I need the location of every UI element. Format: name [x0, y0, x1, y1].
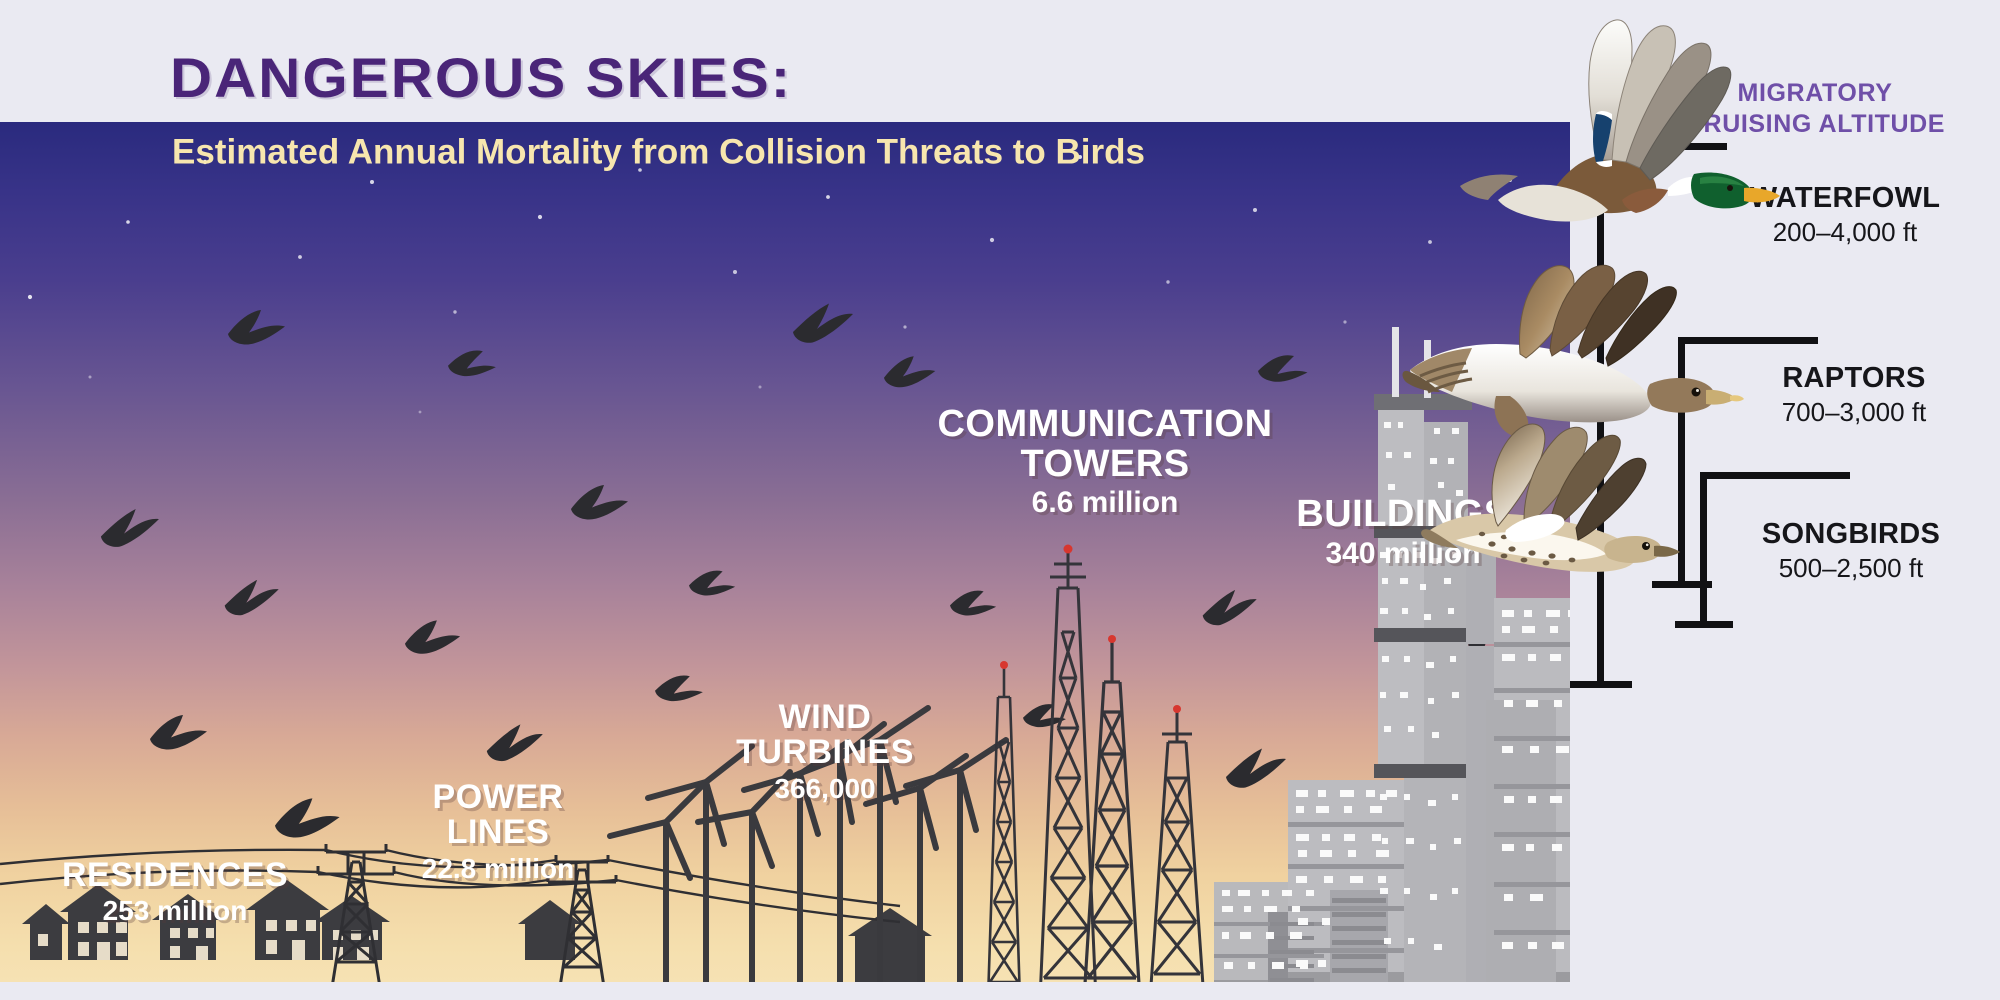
label-power-lines-value: 22.8 million: [388, 854, 608, 883]
label-power-lines-name1: POWER: [388, 780, 608, 815]
ground-strip: [0, 982, 1570, 1000]
mallard-duck-icon: [1460, 20, 1780, 222]
thrush-icon: [1421, 424, 1680, 572]
label-residences-name: RESIDENCES: [30, 858, 320, 893]
label-wind-turbines-name2: TURBINES: [700, 735, 950, 770]
label-wind-turbines-name1: WIND: [700, 700, 950, 735]
label-residences-value: 253 million: [30, 896, 320, 925]
infographic-root: DANGEROUS SKIES:: [0, 0, 2000, 1000]
label-power-lines-name2: LINES: [388, 815, 608, 850]
label-residences: RESIDENCES 253 million: [30, 858, 320, 925]
label-power-lines: POWER LINES 22.8 million: [388, 780, 608, 883]
label-wind-turbines: WIND TURBINES 366,000: [700, 700, 950, 803]
stars: [28, 155, 1512, 423]
hawk-icon: [1403, 265, 1744, 437]
page-subtitle: Estimated Annual Mortality from Collisio…: [172, 135, 1145, 170]
label-wind-turbines-value: 366,000: [700, 774, 950, 803]
communication-towers: [988, 545, 1204, 1000]
page-title: DANGEROUS SKIES:: [170, 50, 792, 106]
bracket-waterfowl-foot: [1570, 681, 1632, 688]
illustrated-birds: [1400, 10, 1880, 650]
label-communication-towers: COMMUNICATION TOWERS 6.6 million: [920, 405, 1290, 518]
label-communication-towers-value: 6.6 million: [920, 487, 1290, 518]
label-communication-towers-name2: TOWERS: [920, 445, 1290, 485]
label-communication-towers-name1: COMMUNICATION: [920, 405, 1290, 445]
